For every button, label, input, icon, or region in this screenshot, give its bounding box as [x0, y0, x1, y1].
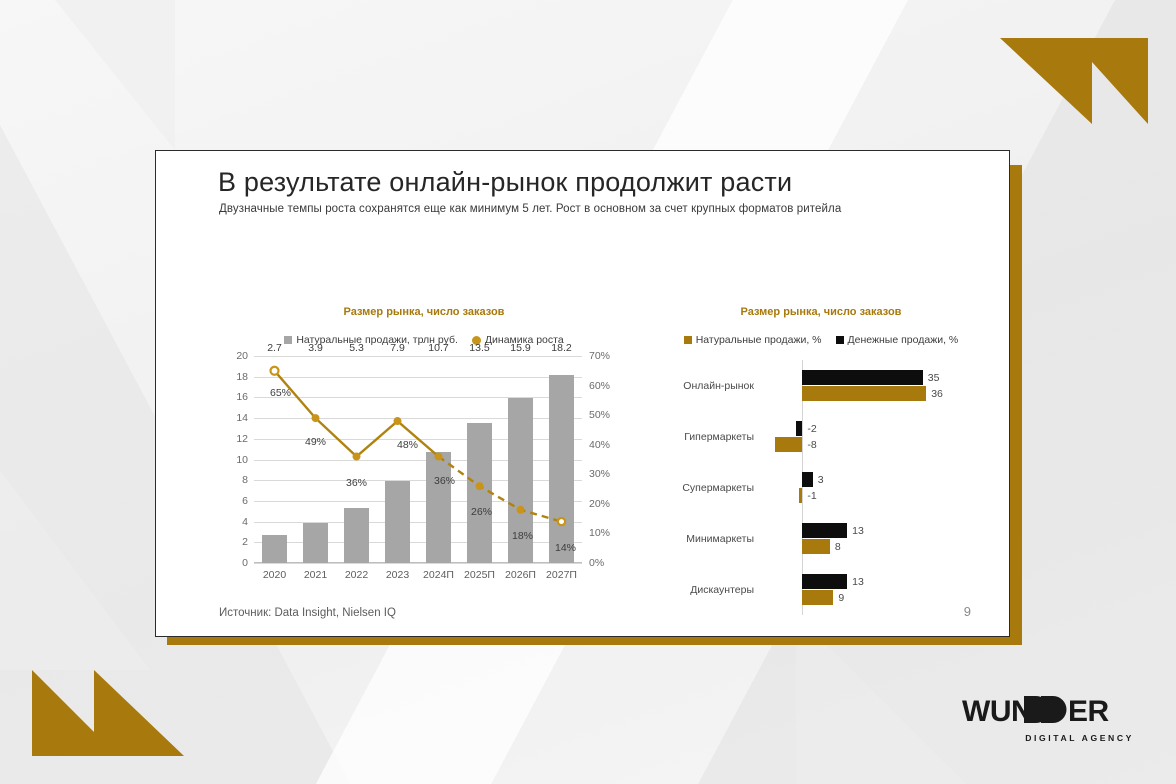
bar-value-label: -2	[807, 423, 816, 435]
y2-axis-tick-label: 50%	[589, 409, 610, 421]
category-label: Дискаунтеры	[690, 584, 754, 596]
brand-logo: WUN ER DIGITAL AGENCY	[962, 694, 1134, 742]
category-label: Минимаркеты	[686, 533, 754, 545]
legend-item[interactable]: Натуральные продажи, %	[684, 334, 822, 346]
y2-axis-tick-label: 10%	[589, 527, 610, 539]
bar[interactable]: 36	[802, 386, 926, 401]
line-value-label: 65%	[270, 387, 291, 399]
y2-axis-tick-label: 0%	[589, 557, 604, 569]
bar[interactable]: 35	[802, 370, 922, 385]
bar-value-label: 13	[852, 525, 864, 537]
svg-text:ER: ER	[1068, 695, 1110, 728]
x-axis-tick-label: 2027П	[546, 569, 577, 581]
line-point-marker[interactable]	[476, 482, 484, 490]
gold-chevron-bottom-left-icon	[32, 670, 184, 762]
y2-axis-tick-label: 40%	[589, 439, 610, 451]
y2-axis-tick-label: 70%	[589, 350, 610, 362]
x-axis-tick-label: 2020	[263, 569, 286, 581]
chart-market-size-by-format: Размер рынка, число заказов Натуральные …	[656, 306, 986, 571]
background-triangle-left	[0, 470, 150, 670]
line-value-label: 36%	[434, 475, 455, 487]
bar[interactable]: 13	[802, 574, 847, 589]
line-value-label: 14%	[555, 542, 576, 554]
bar[interactable]: -2	[796, 421, 803, 436]
bar-value-label: 2.7	[267, 342, 282, 354]
x-axis-tick-label: 2023	[386, 569, 409, 581]
chart-market-size-orders: Размер рынка, число заказов Натуральные …	[214, 306, 634, 571]
bar-value-label: 15.9	[510, 342, 530, 354]
x-axis-tick-label: 2021	[304, 569, 327, 581]
chart-left-title: Размер рынка, число заказов	[214, 306, 634, 318]
x-axis-tick-label: 2022	[345, 569, 368, 581]
bar-value-label: 3	[818, 474, 824, 486]
page-subtitle: Двузначные темпы роста сохранятся еще ка…	[219, 203, 841, 215]
line-value-label: 49%	[305, 436, 326, 448]
chart-right-legend: Натуральные продажи, %Денежные продажи, …	[656, 334, 986, 346]
bar-value-label: 36	[931, 388, 943, 400]
y2-axis-tick-label: 20%	[589, 498, 610, 510]
chart-right-plot-area: Онлайн-рынок3536Гипермаркеты-2-8Супермар…	[768, 360, 940, 615]
bar-value-label: -8	[807, 439, 816, 451]
bar[interactable]: 9	[802, 590, 833, 605]
page-number: 9	[964, 604, 971, 619]
svg-text:WUN: WUN	[962, 695, 1032, 728]
y-axis-tick-label: 10	[236, 454, 248, 466]
category-label: Супермаркеты	[682, 482, 754, 494]
bar[interactable]: -1	[799, 488, 802, 503]
bar[interactable]: 3	[802, 472, 812, 487]
bar-value-label: 18.2	[551, 342, 571, 354]
bar-value-label: 5.3	[349, 342, 364, 354]
grid-line	[254, 563, 582, 564]
line-point-marker[interactable]	[394, 417, 402, 425]
y-axis-tick-label: 12	[236, 433, 248, 445]
bar[interactable]: 8	[802, 539, 830, 554]
gold-chevron-top-right-icon	[1000, 32, 1148, 124]
y-axis-tick-label: 20	[236, 350, 248, 362]
source-note: Источник: Data Insight, Nielsen IQ	[219, 607, 396, 619]
line-value-label: 18%	[512, 530, 533, 542]
page-title: В результате онлайн-рынок продолжит раст…	[218, 167, 792, 198]
bar-value-label: 3.9	[308, 342, 323, 354]
bar-value-label: 13	[852, 576, 864, 588]
x-axis-tick-label: 2026П	[505, 569, 536, 581]
bar-value-label: 10.7	[428, 342, 448, 354]
legend-square-icon	[836, 336, 844, 344]
y-axis-tick-label: 8	[242, 474, 248, 486]
legend-label: Натуральные продажи, %	[696, 334, 822, 346]
wunder-logotype-icon: WUN ER	[962, 694, 1134, 728]
y-axis-tick-label: 14	[236, 412, 248, 424]
legend-square-icon	[684, 336, 692, 344]
chart-right-title: Размер рынка, число заказов	[656, 306, 986, 318]
bar-value-label: 35	[928, 372, 940, 384]
logo-tagline: DIGITAL AGENCY	[1025, 733, 1134, 743]
legend-label: Денежные продажи, %	[848, 334, 959, 346]
chart-left-plot-area: 024681012141618200%10%20%30%40%50%60%70%…	[254, 356, 582, 563]
line-value-label: 26%	[471, 506, 492, 518]
bar[interactable]: -8	[775, 437, 803, 452]
category-label: Онлайн-рынок	[683, 380, 754, 392]
y-axis-tick-label: 18	[236, 371, 248, 383]
y-axis-tick-label: 4	[242, 516, 248, 528]
bar-value-label: 13.5	[469, 342, 489, 354]
bar-value-label: 7.9	[390, 342, 405, 354]
background-triangle-top	[55, 0, 175, 150]
y2-axis-tick-label: 60%	[589, 380, 610, 392]
legend-item[interactable]: Денежные продажи, %	[836, 334, 959, 346]
y-axis-tick-label: 16	[236, 391, 248, 403]
line-point-marker[interactable]	[435, 453, 443, 461]
bar-value-label: 9	[838, 592, 844, 604]
slide-root: В результате онлайн-рынок продолжит раст…	[0, 0, 1176, 784]
slide-card: В результате онлайн-рынок продолжит раст…	[155, 150, 1010, 637]
line-point-marker[interactable]	[517, 506, 525, 514]
line-value-label: 36%	[346, 477, 367, 489]
x-axis-tick-label: 2025П	[464, 569, 495, 581]
line-point-marker[interactable]	[271, 367, 279, 375]
line-point-marker[interactable]	[558, 518, 565, 525]
legend-square-icon	[284, 336, 292, 344]
y2-axis-tick-label: 30%	[589, 468, 610, 480]
bar-value-label: 8	[835, 541, 841, 553]
category-label: Гипермаркеты	[684, 431, 754, 443]
y-axis-tick-label: 6	[242, 495, 248, 507]
x-axis-tick-label: 2024П	[423, 569, 454, 581]
bar[interactable]: 13	[802, 523, 847, 538]
bar-value-label: -1	[807, 490, 816, 502]
line-point-marker[interactable]	[353, 453, 361, 461]
line-point-marker[interactable]	[312, 414, 320, 422]
y-axis-tick-label: 2	[242, 536, 248, 548]
y-axis-tick-label: 0	[242, 557, 248, 569]
line-value-label: 48%	[397, 439, 418, 451]
